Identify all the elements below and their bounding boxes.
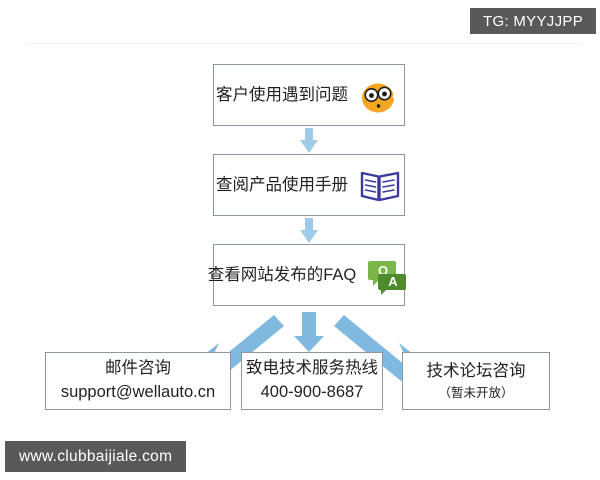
flow-node-problem-label: 客户使用遇到问题 [216, 84, 348, 106]
flow-node-faq[interactable]: 查看网站发布的FAQ Q A [213, 244, 405, 306]
flow-node-manual-label: 查阅产品使用手册 [216, 174, 348, 196]
qa-icon-answer-letter: A [389, 274, 399, 289]
connector-faq-to-phone [294, 312, 324, 352]
flow-node-forum-status: （暂未开放） [438, 384, 513, 402]
flow-node-forum[interactable]: 技术论坛咨询 （暂未开放） [402, 352, 550, 410]
flow-node-phone-title: 致电技术服务热线 [246, 357, 378, 381]
flow-node-problem[interactable]: 客户使用遇到问题 [213, 64, 405, 126]
flow-node-email-title: 邮件咨询 [105, 357, 171, 381]
qa-speech-bubbles-icon: Q A [366, 253, 410, 297]
flow-node-phone-number: 400-900-8687 [261, 381, 364, 405]
content-divider [26, 43, 582, 44]
telegram-watermark-badge: TG: MYYJJPP [470, 8, 596, 34]
site-watermark-badge: www.clubbaijiale.com [5, 441, 186, 472]
flow-node-email-address: support@wellauto.cn [61, 381, 215, 405]
diagram-canvas: 客户使用遇到问题 查阅产品使用手册 [0, 0, 600, 480]
confused-face-question-emoji [358, 73, 402, 117]
connector-manual-to-faq [300, 218, 318, 243]
flow-node-email[interactable]: 邮件咨询 support@wellauto.cn [45, 352, 231, 410]
flow-node-faq-label: 查看网站发布的FAQ [208, 264, 357, 286]
flow-node-manual[interactable]: 查阅产品使用手册 [213, 154, 405, 216]
open-book-icon [358, 163, 402, 207]
flow-node-phone[interactable]: 致电技术服务热线 400-900-8687 [241, 352, 383, 410]
flow-node-forum-title: 技术论坛咨询 [427, 360, 526, 384]
connector-problem-to-manual [300, 128, 318, 153]
